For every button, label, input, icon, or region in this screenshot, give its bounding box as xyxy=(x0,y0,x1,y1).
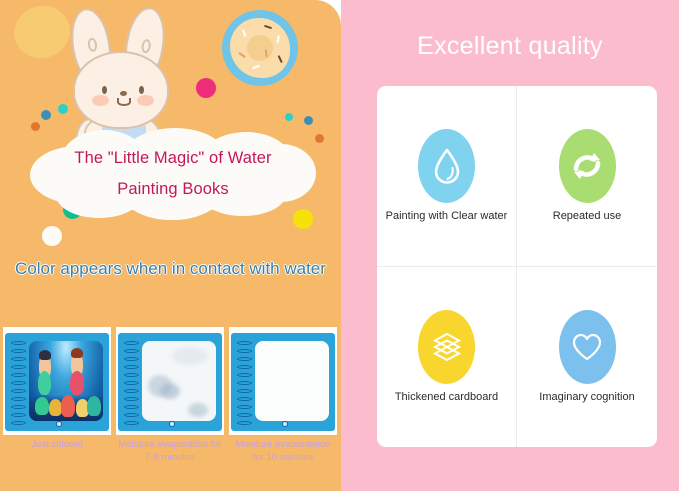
feature-label: Painting with Clear water xyxy=(386,209,508,223)
book-stages-row: Just colored xyxy=(3,327,339,487)
decor-dot xyxy=(304,116,313,125)
title-cloud-banner: The "Little Magic" of Water Painting Boo… xyxy=(30,128,316,220)
book-caption-1: Just colored xyxy=(3,439,111,452)
layers-icon xyxy=(418,310,475,384)
feature-label: Repeated use xyxy=(553,209,622,223)
coral-blob xyxy=(87,396,101,416)
book-stage-2: Moisture evaporation for 7-8 minutes xyxy=(116,327,224,464)
spiral-book-icon xyxy=(118,333,222,431)
feature-card-painting-with-clear-water: Painting with Clear water xyxy=(377,86,517,267)
decor-dot xyxy=(41,110,51,120)
sprinkle xyxy=(242,29,247,37)
book-snap-button xyxy=(282,421,288,427)
sprinkle xyxy=(276,35,280,43)
spiral-binding xyxy=(237,339,252,425)
book-page-colored xyxy=(29,341,103,421)
bunny-cheek-right xyxy=(137,95,154,106)
book-photo-1 xyxy=(3,327,111,435)
sprinkle xyxy=(264,25,272,30)
decor-dot xyxy=(285,113,293,121)
mermaid-hair xyxy=(39,350,51,360)
book-caption-2: Moisture evaporation for 7-8 minutes xyxy=(116,439,224,464)
coral-blob xyxy=(35,397,49,415)
coral-blob xyxy=(61,395,75,417)
features-grid: Painting with Clear water Repeated use xyxy=(377,86,657,447)
book-stage-1: Just colored xyxy=(3,327,111,452)
bunny-eye-right xyxy=(139,86,144,94)
spiral-book-icon xyxy=(231,333,335,431)
feature-label: Thickened cardboard xyxy=(395,390,498,404)
ghost-image xyxy=(188,403,208,417)
donut-hole xyxy=(247,35,273,61)
blank-surface xyxy=(255,341,329,421)
sprinkle xyxy=(277,55,283,63)
bunny-head xyxy=(73,51,169,129)
donut-icon xyxy=(222,10,298,86)
bunny-ear-inner-left xyxy=(87,37,98,52)
ghost-image xyxy=(160,383,180,399)
decor-dot xyxy=(315,134,324,143)
book-snap-button xyxy=(56,421,62,427)
bunny-nose xyxy=(120,91,127,96)
page-title-line2: Painting Books xyxy=(117,180,228,199)
right-panel: Excellent quality Painting with Clear wa… xyxy=(341,0,679,491)
heart-icon xyxy=(559,310,616,384)
ghost-image xyxy=(172,347,208,365)
book-page-fading xyxy=(142,341,216,421)
bunny-mouth xyxy=(117,98,131,106)
sprinkle xyxy=(238,52,246,59)
feature-label: Imaginary cognition xyxy=(539,390,634,404)
quality-title: Excellent quality xyxy=(341,32,679,61)
mermaid-hair xyxy=(71,348,83,358)
spiral-book-icon xyxy=(5,333,109,431)
book-photo-3 xyxy=(229,327,337,435)
feature-card-repeated-use: Repeated use xyxy=(517,86,657,267)
book-photo-2 xyxy=(116,327,224,435)
feature-card-thickened-cardboard: Thickened cardboard xyxy=(377,267,517,448)
left-panel: The "Little Magic" of Water Painting Boo… xyxy=(0,0,341,491)
bunny-eye-left xyxy=(102,86,107,94)
subtitle-text: Color appears when in contact with water xyxy=(0,258,341,279)
donut-icing xyxy=(230,18,290,78)
sprinkle xyxy=(252,65,260,70)
bunny-illustration xyxy=(62,6,180,141)
recycle-icon xyxy=(559,129,616,203)
mermaid-tail xyxy=(38,371,51,395)
book-snap-button xyxy=(169,421,175,427)
mermaid-tail xyxy=(70,371,84,395)
book-page-blank xyxy=(255,341,329,421)
feature-card-imaginary-cognition: Imaginary cognition xyxy=(517,267,657,448)
product-infographic: The "Little Magic" of Water Painting Boo… xyxy=(0,0,679,491)
bunny-cheek-left xyxy=(92,95,109,106)
bunny-ear-inner-right xyxy=(141,39,152,54)
decor-dot xyxy=(42,226,62,246)
spiral-binding xyxy=(11,339,26,425)
decor-dot xyxy=(196,78,216,98)
decor-dot xyxy=(58,104,68,114)
water-drop-icon xyxy=(418,129,475,203)
book-caption-3: Moisture evaporateion for 10 minutes xyxy=(229,439,337,464)
spiral-binding xyxy=(124,339,139,425)
page-title-line1: The "Little Magic" of Water xyxy=(74,149,271,168)
book-stage-3: Moisture evaporateion for 10 minutes xyxy=(229,327,337,464)
